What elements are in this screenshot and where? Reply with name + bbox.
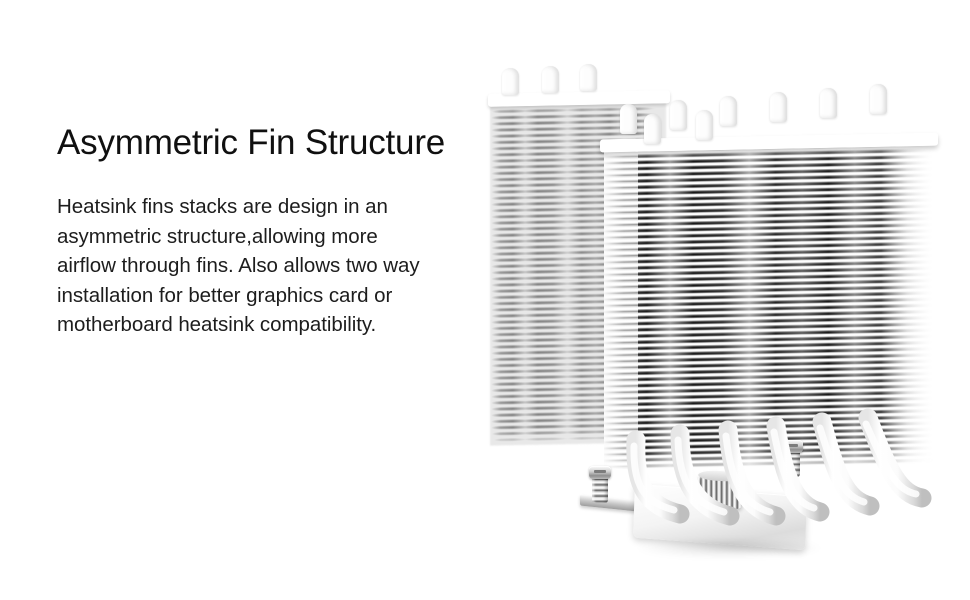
feature-description: Heatsink fins stacks are design in an as…: [57, 192, 432, 340]
product-image-cpu-cooler: [484, 52, 970, 572]
heat-pipe-tip-icon: [670, 100, 687, 130]
heat-pipe-tip-icon: [696, 110, 713, 140]
heat-pipe-tip-icon: [820, 88, 837, 118]
heat-pipe-tip-icon: [502, 68, 519, 95]
heat-pipe-tip-icon: [644, 114, 661, 144]
heat-pipe-tip-icon: [580, 64, 597, 91]
feature-text-block: Asymmetric Fin Structure Heatsink fins s…: [57, 120, 477, 340]
heat-pipe-tip-icon: [542, 66, 559, 93]
heat-pipe-tip-icon: [720, 96, 737, 126]
heat-pipe-tip-icon: [770, 92, 787, 122]
page-title: Asymmetric Fin Structure: [57, 120, 477, 166]
product-contact-shadow: [634, 538, 824, 558]
heat-pipe: [868, 418, 922, 498]
heat-pipe-tip-icon: [870, 84, 887, 114]
heat-pipe-tip-icon: [620, 104, 637, 134]
feature-banner: Asymmetric Fin Structure Heatsink fins s…: [0, 0, 970, 600]
